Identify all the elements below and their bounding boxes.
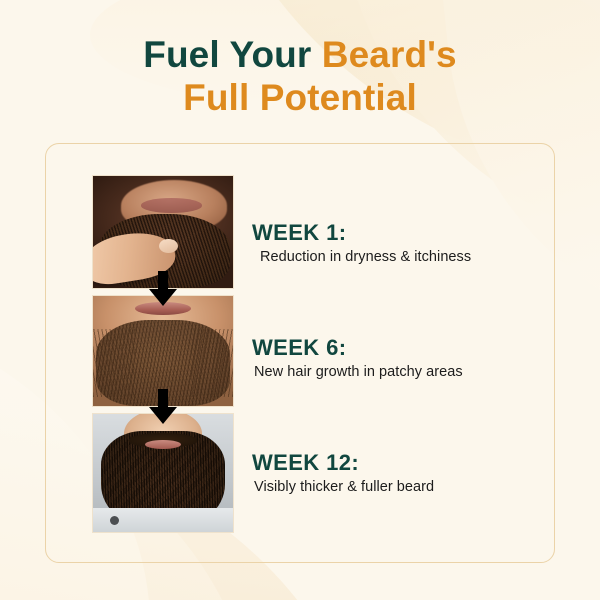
headline-text-teal: Fuel Your bbox=[143, 34, 321, 75]
headline-line-1: Fuel Your Beard's bbox=[0, 34, 600, 77]
down-arrow-icon-2 bbox=[146, 389, 180, 425]
step-title-week-12: WEEK 12: bbox=[252, 450, 532, 476]
step-item-week-1: WEEK 1: Reduction in dryness & itchiness bbox=[252, 220, 532, 265]
step-title-week-6: WEEK 6: bbox=[252, 335, 532, 361]
step-description-week-6: New hair growth in patchy areas bbox=[252, 364, 532, 380]
headline-text-orange-1: Beard's bbox=[322, 34, 457, 75]
progress-photo-week-12 bbox=[92, 413, 234, 533]
headline-line-2: Full Potential bbox=[0, 77, 600, 120]
page-title: Fuel Your Beard's Full Potential bbox=[0, 34, 600, 120]
down-arrow-icon-1 bbox=[146, 271, 180, 307]
step-title-week-1: WEEK 1: bbox=[252, 220, 532, 246]
headline-text-orange-2: Full Potential bbox=[183, 77, 417, 118]
progress-steps-list: WEEK 1: Reduction in dryness & itchiness… bbox=[252, 175, 532, 533]
step-description-week-1: Reduction in dryness & itchiness bbox=[252, 249, 532, 265]
step-item-week-12: WEEK 12: Visibly thicker & fuller beard bbox=[252, 450, 532, 495]
step-item-week-6: WEEK 6: New hair growth in patchy areas bbox=[252, 335, 532, 380]
step-description-week-12: Visibly thicker & fuller beard bbox=[252, 479, 532, 495]
progress-photo-column bbox=[92, 175, 234, 533]
